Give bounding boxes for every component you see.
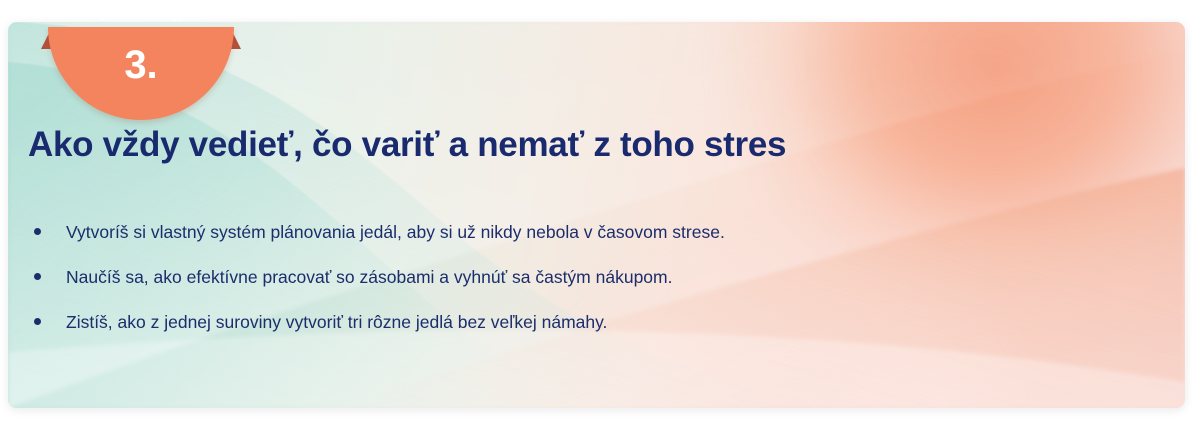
badge-kicker-text: Workshop [93, 0, 189, 26]
svg-text:Workshop: Workshop [93, 0, 189, 26]
list-item-text: Naučíš sa, ako efektívne pracovať so zás… [66, 267, 672, 288]
page-title: Ako vždy vedieť, čo variť a nemať z toho… [28, 125, 786, 165]
list-item-text: Zistíš, ako z jednej suroviny vytvoriť t… [66, 312, 607, 333]
bullet-dot-icon [34, 318, 41, 325]
workshop-badge: Workshop 3. [41, 5, 241, 120]
list-item: Vytvoríš si vlastný systém plánovania je… [34, 222, 725, 243]
workshop-card: Ako vždy vedieť, čo variť a nemať z toho… [8, 22, 1185, 408]
bullet-dot-icon [34, 273, 41, 280]
bullet-dot-icon [34, 228, 41, 235]
list-item-text: Vytvoríš si vlastný systém plánovania je… [66, 222, 725, 243]
badge-number: 3. [48, 45, 234, 85]
benefits-list: Vytvoríš si vlastný systém plánovania je… [34, 222, 725, 357]
list-item: Naučíš sa, ako efektívne pracovať so zás… [34, 267, 725, 288]
list-item: Zistíš, ako z jednej suroviny vytvoriť t… [34, 312, 725, 333]
